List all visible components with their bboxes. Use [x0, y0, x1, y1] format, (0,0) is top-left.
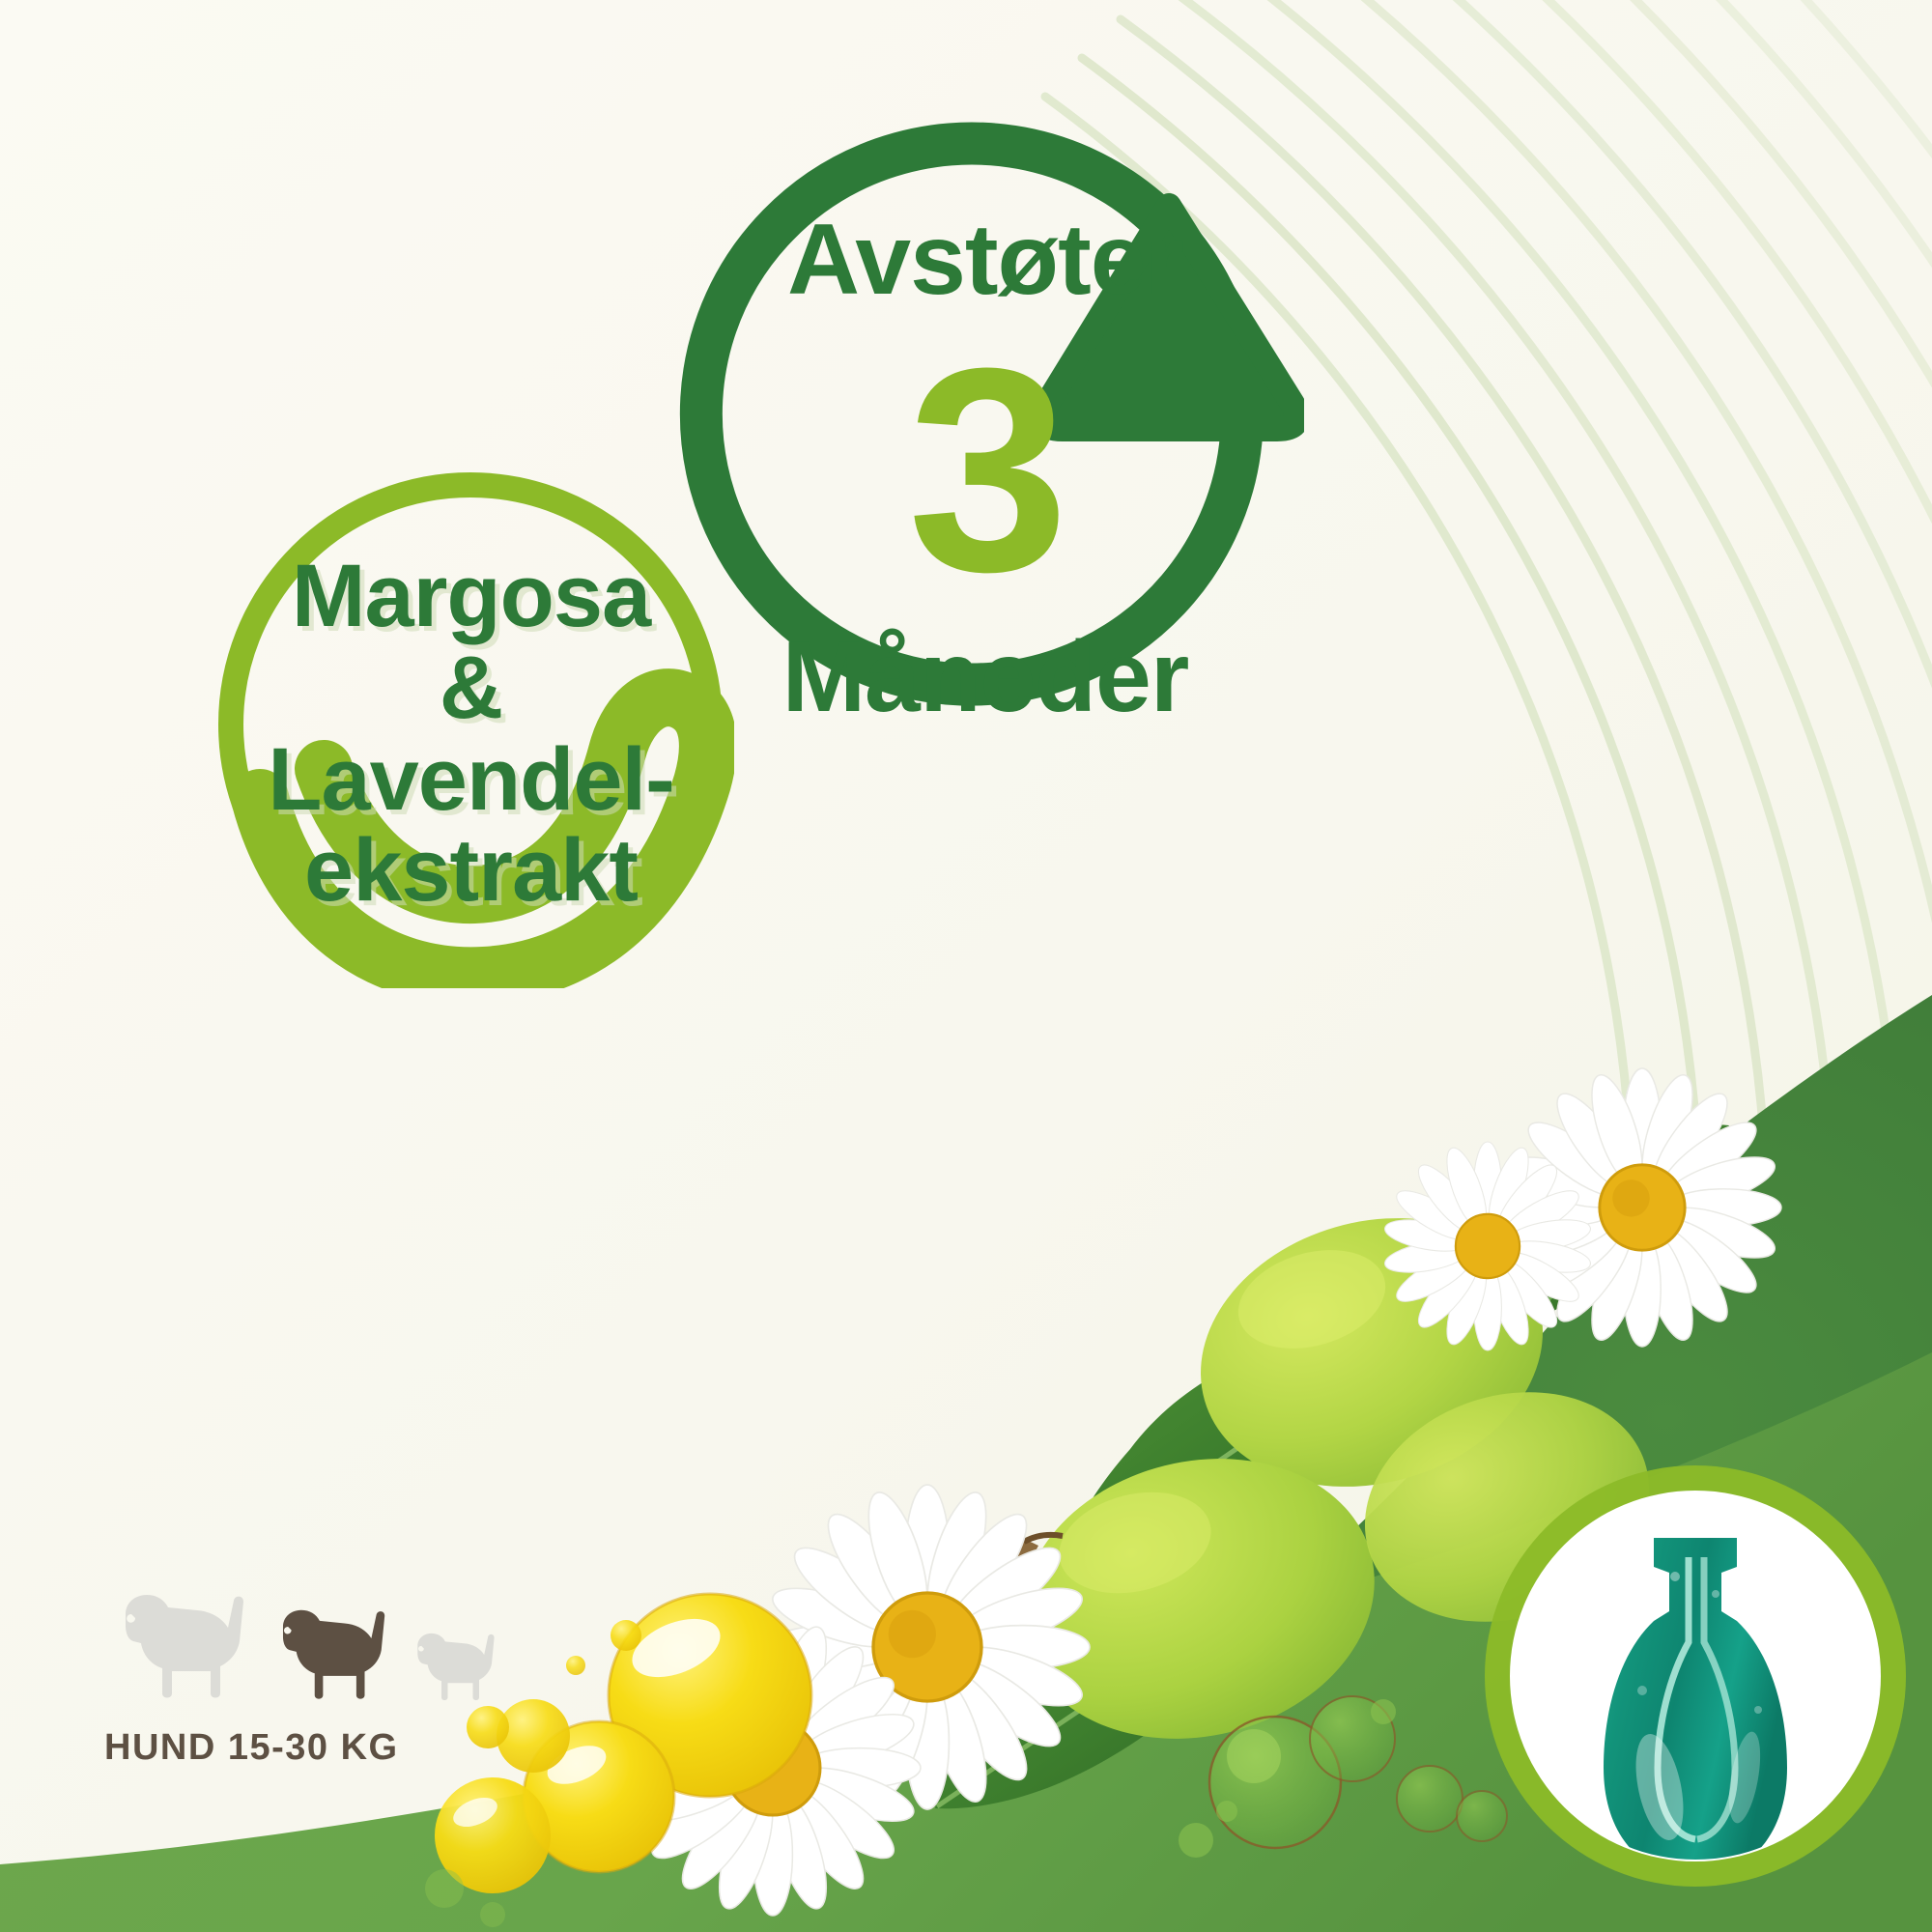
ingredients-badge-label: Margosa & Lavendel- ekstrakt [217, 551, 724, 917]
ingredients-badge: Margosa & Lavendel- ekstrakt [208, 462, 734, 988]
pipette-product-badge [1468, 1449, 1922, 1903]
dog-icon-medium [265, 1602, 398, 1706]
dog-icon-large [104, 1585, 259, 1706]
duration-badge-top-label: Avstøter [667, 209, 1304, 311]
dog-weight-label: HUND 15-30 KG [104, 1727, 510, 1769]
dog-size-icons [104, 1580, 510, 1706]
product-packaging-panel: Avstøter 3 Måneder Margosa & Lavendel- e… [0, 0, 1932, 1932]
duration-badge-bottom-label: Måneder [667, 626, 1304, 728]
dog-weight-block: HUND 15-30 KG [104, 1580, 510, 1769]
duration-badge: Avstøter 3 Måneder [667, 114, 1304, 752]
dog-icon-small [404, 1627, 504, 1706]
duration-badge-number: 3 [667, 325, 1304, 614]
